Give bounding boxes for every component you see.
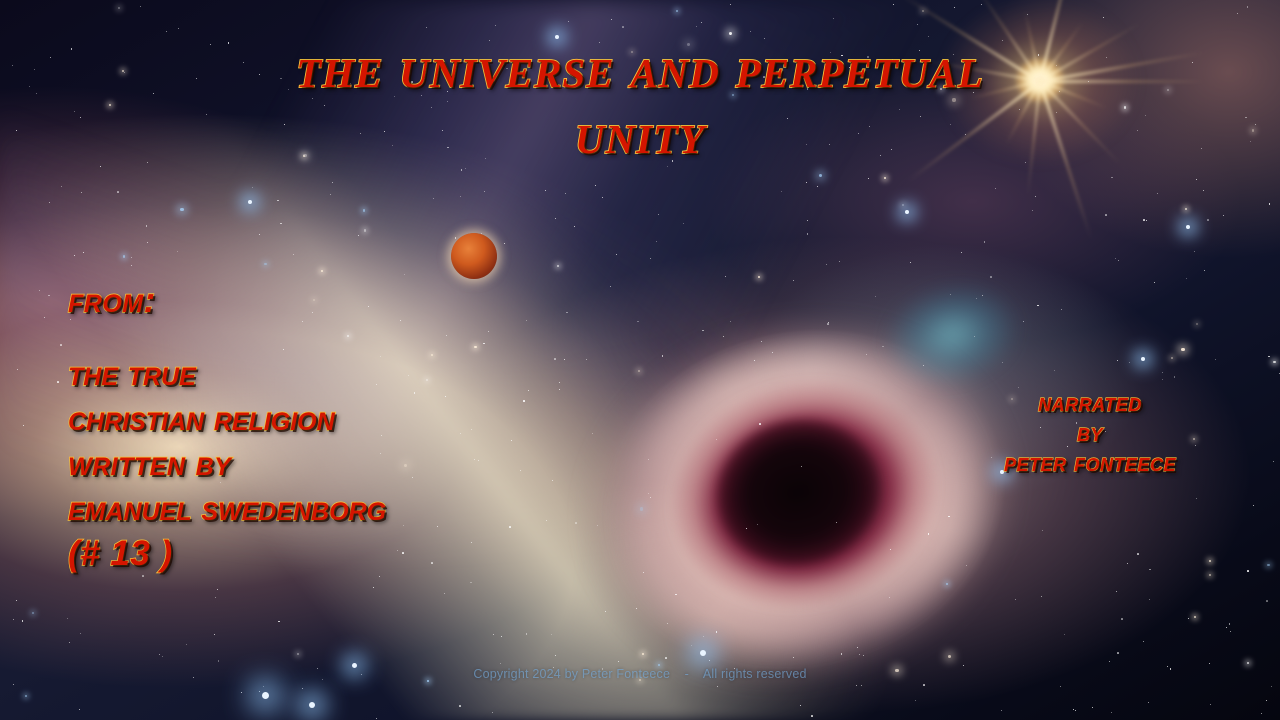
star xyxy=(611,19,612,20)
star xyxy=(1121,618,1123,620)
star xyxy=(1117,652,1119,654)
star xyxy=(455,237,457,239)
star xyxy=(1143,641,1144,642)
star xyxy=(650,258,651,259)
star xyxy=(474,459,475,460)
narrator-name: Peter Fonteece xyxy=(940,448,1240,478)
star xyxy=(643,572,644,573)
star xyxy=(177,251,178,252)
star xyxy=(723,336,724,337)
star xyxy=(923,365,924,366)
star xyxy=(946,583,948,585)
star xyxy=(1064,634,1066,636)
star xyxy=(488,331,489,332)
star xyxy=(483,343,485,345)
star xyxy=(437,526,438,527)
star xyxy=(446,335,447,336)
star xyxy=(1116,591,1117,592)
star xyxy=(79,709,80,710)
star xyxy=(1247,570,1249,572)
star xyxy=(178,28,179,29)
star xyxy=(44,317,45,318)
star xyxy=(1137,553,1139,555)
star xyxy=(1185,208,1187,210)
star xyxy=(263,686,265,688)
star xyxy=(597,525,598,526)
star xyxy=(595,185,596,186)
star xyxy=(758,276,760,278)
star xyxy=(214,634,215,635)
star xyxy=(636,608,637,609)
star xyxy=(974,336,975,337)
star xyxy=(459,705,461,707)
star xyxy=(546,520,547,521)
star xyxy=(67,618,68,619)
star xyxy=(1060,686,1061,687)
narrated-label: Narrated xyxy=(940,388,1240,418)
star xyxy=(658,664,660,666)
star xyxy=(412,477,413,478)
star xyxy=(746,528,747,529)
star xyxy=(1015,599,1016,600)
rights-text: All rights reserved xyxy=(703,667,807,681)
star xyxy=(1229,623,1231,625)
star xyxy=(981,4,982,5)
star xyxy=(215,597,216,598)
star xyxy=(592,433,593,434)
episode-number: (# 13 ) xyxy=(68,531,386,576)
star xyxy=(1075,710,1076,711)
star xyxy=(1111,177,1113,179)
star xyxy=(470,582,472,584)
star xyxy=(500,663,501,664)
author-name: Emanuel Swedenborg xyxy=(68,486,386,531)
star xyxy=(757,524,758,525)
star xyxy=(889,597,890,598)
star xyxy=(1149,599,1150,600)
star xyxy=(217,589,218,590)
star xyxy=(642,653,644,655)
star xyxy=(471,542,472,543)
star xyxy=(511,440,512,441)
star xyxy=(81,192,82,193)
star xyxy=(431,354,433,356)
star xyxy=(426,379,428,381)
star xyxy=(1247,662,1249,664)
star xyxy=(703,636,704,637)
title-line-2: Unity xyxy=(0,100,1280,166)
star xyxy=(509,526,511,528)
star xyxy=(404,274,405,275)
copyright-text: Copyright 2024 by Peter Fonteece xyxy=(473,667,670,681)
star xyxy=(478,460,479,461)
star xyxy=(364,229,366,231)
star xyxy=(676,10,678,12)
star xyxy=(1061,309,1062,310)
star xyxy=(241,692,242,693)
star xyxy=(495,25,497,27)
star xyxy=(1209,663,1210,664)
star xyxy=(555,218,556,219)
star xyxy=(827,323,829,325)
star xyxy=(1230,631,1231,632)
star xyxy=(884,177,886,179)
star xyxy=(772,352,773,353)
star xyxy=(716,631,718,633)
star xyxy=(801,466,802,467)
star xyxy=(675,594,677,596)
credits-spacer xyxy=(68,323,386,351)
star xyxy=(910,262,911,263)
star xyxy=(750,31,751,32)
star xyxy=(330,194,331,195)
star xyxy=(950,294,951,295)
star xyxy=(893,4,894,5)
star xyxy=(650,497,651,498)
star xyxy=(836,522,837,523)
star xyxy=(363,209,365,211)
star xyxy=(995,188,996,189)
star xyxy=(817,186,818,187)
star xyxy=(1253,505,1254,506)
star xyxy=(866,354,867,355)
bright-star xyxy=(1141,357,1145,361)
page-title: The Universe and Perpetual Unity xyxy=(0,34,1280,166)
star xyxy=(1204,270,1205,271)
star xyxy=(1027,14,1028,15)
star xyxy=(1154,282,1155,283)
star xyxy=(1129,362,1130,363)
star xyxy=(1171,357,1173,359)
star xyxy=(83,252,84,253)
star xyxy=(501,636,503,638)
star xyxy=(504,243,505,244)
star xyxy=(618,661,619,662)
star xyxy=(702,330,704,332)
star xyxy=(1032,210,1033,211)
star xyxy=(280,223,282,225)
star xyxy=(605,611,606,612)
star xyxy=(80,633,81,634)
star xyxy=(730,4,731,5)
star xyxy=(159,654,161,656)
star xyxy=(162,656,163,657)
star xyxy=(923,684,925,686)
star xyxy=(166,31,167,32)
star xyxy=(1186,278,1187,279)
star xyxy=(793,657,794,658)
star xyxy=(431,562,433,564)
star xyxy=(1237,13,1238,14)
star xyxy=(13,619,14,620)
star xyxy=(982,295,983,296)
star xyxy=(638,370,640,372)
star xyxy=(403,525,405,527)
star xyxy=(701,22,702,23)
star xyxy=(218,660,220,662)
star xyxy=(1196,498,1197,499)
bright-star xyxy=(1186,225,1190,229)
star xyxy=(545,190,546,191)
star xyxy=(554,358,556,360)
star xyxy=(861,685,862,686)
star xyxy=(730,321,732,323)
star xyxy=(1105,214,1107,216)
star xyxy=(23,425,24,426)
star xyxy=(426,27,427,28)
star xyxy=(1181,348,1184,351)
star xyxy=(131,257,133,259)
star xyxy=(1194,251,1195,252)
star xyxy=(1037,305,1039,307)
star xyxy=(13,684,14,685)
star xyxy=(1203,190,1204,191)
star xyxy=(460,433,461,434)
star xyxy=(1103,17,1104,18)
star xyxy=(1146,220,1147,221)
star xyxy=(917,24,918,25)
star xyxy=(1266,600,1268,602)
star xyxy=(574,226,575,227)
star xyxy=(74,255,76,257)
star xyxy=(948,516,950,518)
star xyxy=(662,355,664,357)
star xyxy=(49,202,51,204)
star xyxy=(1209,560,1211,562)
star xyxy=(793,280,794,281)
star xyxy=(683,223,684,224)
star xyxy=(754,360,755,361)
star xyxy=(1215,359,1216,360)
star xyxy=(759,423,761,425)
star xyxy=(691,645,692,646)
star xyxy=(928,533,930,535)
star xyxy=(69,642,70,643)
star xyxy=(568,21,569,22)
by-label: by xyxy=(940,418,1240,448)
star xyxy=(961,252,962,253)
star xyxy=(1162,372,1163,373)
star xyxy=(528,390,529,391)
star xyxy=(1054,370,1055,371)
star xyxy=(60,344,62,346)
from-label: From: xyxy=(68,278,386,323)
star xyxy=(520,470,521,471)
star xyxy=(948,655,951,658)
star xyxy=(414,392,416,394)
star xyxy=(1157,193,1158,194)
star xyxy=(1111,712,1112,713)
bright-star xyxy=(309,702,315,708)
star xyxy=(717,686,718,687)
star xyxy=(1118,260,1119,261)
star xyxy=(17,369,19,371)
star xyxy=(264,263,266,265)
star xyxy=(1267,564,1269,566)
star xyxy=(826,264,827,265)
title-line-1: The Universe and Perpetual xyxy=(296,34,984,100)
star xyxy=(16,600,17,601)
star xyxy=(444,593,445,594)
star xyxy=(882,346,884,348)
star xyxy=(1002,362,1003,363)
star xyxy=(857,647,859,649)
star xyxy=(1092,707,1093,708)
star xyxy=(474,346,476,348)
star xyxy=(1143,219,1145,221)
star xyxy=(807,220,808,221)
star xyxy=(839,261,840,262)
star xyxy=(902,204,904,206)
star xyxy=(551,634,552,635)
star xyxy=(460,196,461,197)
star xyxy=(716,439,717,440)
star xyxy=(1042,530,1043,531)
star xyxy=(117,191,119,193)
written-by-label: written by xyxy=(68,441,386,486)
star xyxy=(445,396,446,397)
star xyxy=(180,208,183,211)
star xyxy=(640,507,643,510)
star xyxy=(1194,616,1196,618)
star xyxy=(147,242,148,243)
star xyxy=(781,191,782,192)
star xyxy=(610,286,612,288)
star xyxy=(648,493,649,494)
bright-star xyxy=(700,650,706,656)
work-title-line-2: Christian Religion xyxy=(68,396,386,441)
star xyxy=(39,290,40,291)
star xyxy=(1115,258,1116,259)
star xyxy=(622,26,624,28)
star xyxy=(984,241,986,243)
star xyxy=(1223,215,1224,216)
star xyxy=(658,214,659,215)
star xyxy=(565,193,566,194)
star xyxy=(555,655,557,657)
source-credits: From: The True Christian Religion writte… xyxy=(68,278,386,576)
bright-star xyxy=(262,692,269,699)
star xyxy=(1001,710,1002,711)
star xyxy=(293,254,294,255)
star xyxy=(1196,323,1198,325)
bright-star xyxy=(905,210,909,214)
star xyxy=(1188,618,1189,619)
star xyxy=(1174,376,1176,378)
star xyxy=(131,265,132,266)
star xyxy=(400,320,401,321)
star xyxy=(1226,627,1227,628)
star xyxy=(492,712,493,713)
star xyxy=(523,400,525,402)
star xyxy=(302,688,304,690)
title-slide: The Universe and Perpetual Unity From: T… xyxy=(0,0,1280,720)
star xyxy=(321,270,323,272)
star xyxy=(696,26,697,27)
star xyxy=(1210,704,1211,705)
star xyxy=(461,169,463,171)
star xyxy=(259,234,260,235)
star xyxy=(358,235,359,236)
star xyxy=(465,168,466,169)
star xyxy=(1273,461,1274,462)
star xyxy=(1023,321,1024,322)
star xyxy=(48,295,50,297)
bright-star xyxy=(248,200,252,204)
star xyxy=(922,10,924,12)
star xyxy=(966,565,967,566)
star xyxy=(1271,686,1273,688)
star xyxy=(648,459,650,461)
star xyxy=(841,653,843,655)
star xyxy=(1269,203,1271,205)
star xyxy=(954,7,955,8)
star xyxy=(471,429,472,430)
star xyxy=(32,612,34,614)
star xyxy=(1117,360,1118,361)
star xyxy=(123,255,125,257)
star xyxy=(277,200,279,202)
star xyxy=(819,174,822,177)
star xyxy=(1149,569,1151,571)
star xyxy=(61,186,62,187)
star xyxy=(566,312,568,314)
star xyxy=(297,653,299,655)
star xyxy=(1035,196,1036,197)
star xyxy=(526,633,528,635)
star xyxy=(1148,702,1149,703)
star xyxy=(493,634,495,636)
star xyxy=(637,321,639,323)
star xyxy=(373,587,374,588)
star xyxy=(404,464,407,467)
star xyxy=(863,655,864,656)
star xyxy=(976,298,977,299)
narrator-credit: Narrated by Peter Fonteece xyxy=(940,388,1240,478)
star xyxy=(278,621,280,623)
star xyxy=(332,182,333,183)
star xyxy=(665,657,667,659)
star xyxy=(559,389,560,390)
work-title-line-1: The True xyxy=(68,351,386,396)
star xyxy=(1247,6,1249,8)
star xyxy=(811,715,813,717)
star xyxy=(1268,356,1270,358)
star xyxy=(559,382,560,383)
star xyxy=(1261,713,1263,715)
star xyxy=(586,359,587,360)
star xyxy=(656,241,657,242)
star xyxy=(1266,700,1267,701)
star xyxy=(990,276,992,278)
star xyxy=(118,7,120,9)
star xyxy=(1162,379,1163,380)
star xyxy=(140,6,141,7)
star xyxy=(402,552,404,554)
star xyxy=(552,480,553,481)
star xyxy=(833,18,834,19)
star xyxy=(761,341,762,342)
star xyxy=(22,620,24,622)
star xyxy=(259,691,260,692)
star xyxy=(397,550,399,552)
star xyxy=(575,522,577,524)
star xyxy=(1127,563,1128,564)
star xyxy=(57,381,59,383)
star xyxy=(146,225,148,227)
star xyxy=(25,695,27,697)
star xyxy=(484,191,486,193)
